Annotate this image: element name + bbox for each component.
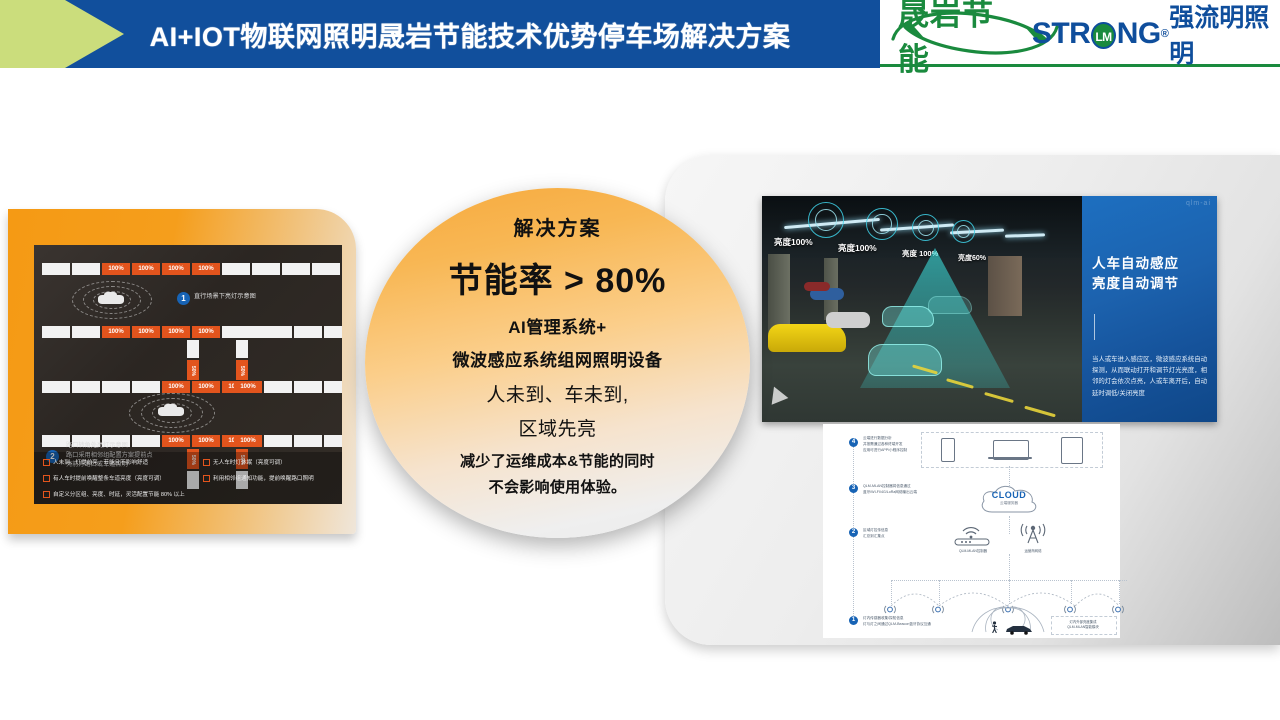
car-icon-2 bbox=[158, 407, 184, 416]
checklist-label: 有人车时提前唤醒整条车道亮度（亮度可调） bbox=[53, 474, 165, 482]
checkbox-icon bbox=[203, 459, 210, 466]
lamp-seg bbox=[312, 263, 340, 275]
logo-brand-cn: 晟岩节能 bbox=[898, 0, 1018, 79]
cell-tower-icon bbox=[1017, 518, 1049, 546]
checklist-label: 无人车时灯休眠（亮度可调） bbox=[213, 458, 286, 466]
parking-garage-image: 亮度100% 亮度100% 亮度 100% 亮度60% bbox=[762, 196, 1217, 422]
watermark: qlm-ai bbox=[1186, 200, 1211, 207]
vert-lamp-on-1: 50% bbox=[187, 360, 199, 380]
lamp-seg-on: 100% bbox=[234, 435, 262, 447]
sensor-module-label: 灯内外部亮度集成 QLM-MLAN智能模块 bbox=[1051, 620, 1115, 631]
step-3-line2: 蓝牙/WI-FI/4G/LoRa网络输出云端 bbox=[863, 490, 917, 496]
panel-divider bbox=[1094, 314, 1095, 340]
lamp-seg bbox=[72, 381, 100, 393]
router-label: QLM-MLAN控制器 bbox=[941, 548, 1005, 553]
tower-label: 运营商网络 bbox=[1011, 548, 1055, 553]
logo-strong-left: STR bbox=[1032, 17, 1091, 51]
floor-marking-4 bbox=[1024, 406, 1056, 418]
lamp-seg bbox=[42, 263, 70, 275]
vert-lamp-value: 50% bbox=[239, 366, 245, 378]
router-icon bbox=[951, 520, 995, 546]
lamp-seg bbox=[324, 435, 342, 447]
lamp-seg bbox=[42, 326, 70, 338]
panel-title: 人车自动感应 亮度自动调节 bbox=[1092, 254, 1179, 293]
lamp-seg bbox=[324, 381, 342, 393]
network-topology-diagram: 4 云端进行数据分析 并按需通过各种终端开发 应用可进行APP/小程序控制 3 … bbox=[823, 424, 1120, 638]
step-badge-1: 1 bbox=[849, 616, 858, 625]
hud-ring-1 bbox=[808, 202, 844, 238]
lamp-seg-on: 100% bbox=[162, 381, 190, 393]
step-text-1: 灯内传感器收集/探知信息 灯与灯之间通过QLM-Beacon蓝牙协议互通 bbox=[863, 616, 931, 628]
hud-ring-2 bbox=[866, 208, 898, 240]
pedestrian-icon bbox=[991, 620, 998, 632]
lamp-seg bbox=[264, 326, 292, 338]
lamp-seg bbox=[252, 263, 280, 275]
parked-car-white bbox=[826, 312, 870, 328]
photo-blue-panel: qlm-ai 人车自动感应 亮度自动调节 当人或车进入感应区，微波感应系统自动探… bbox=[1082, 196, 1217, 422]
lamp-seg bbox=[234, 326, 262, 338]
checkbox-icon bbox=[43, 459, 50, 466]
lamp-seg-on: 100% bbox=[192, 263, 220, 275]
lamp-seg-on: 100% bbox=[234, 381, 262, 393]
logo-brand-en: STRLMNG® 强流明照明 bbox=[1032, 0, 1280, 70]
logo-strong-right: NG bbox=[1117, 17, 1161, 51]
step-4-line3: 应用可进行APP/小程序控制 bbox=[863, 448, 907, 454]
parked-car-red bbox=[804, 282, 830, 291]
oval-line-5: 减少了运维成本&节能的同时 bbox=[460, 450, 655, 471]
lamp-seg bbox=[132, 381, 160, 393]
floor-arrow-icon bbox=[766, 383, 789, 405]
lamp-seg-on: 100% bbox=[132, 263, 160, 275]
step-badge-2: 2 bbox=[849, 528, 858, 537]
parked-car-yellow bbox=[768, 324, 846, 352]
checkbox-icon bbox=[43, 475, 50, 482]
oval-line-4: 区域先亮 bbox=[518, 414, 596, 441]
lamp-seg-on: 100% bbox=[102, 326, 130, 338]
lamp-seg bbox=[264, 435, 292, 447]
step-2-line2: 汇总到汇集点 bbox=[863, 534, 888, 540]
panel-title-line2: 亮度自动调节 bbox=[1092, 274, 1179, 294]
step-badge-3: 3 bbox=[849, 484, 858, 493]
sensor-module-line2: QLM-MLAN智能模块 bbox=[1051, 625, 1115, 630]
highlighted-car-1 bbox=[882, 306, 934, 327]
trunk-line bbox=[1009, 554, 1010, 580]
step-1-line2: 灯与灯之间通过QLM-Beacon蓝牙协议互通 bbox=[863, 622, 931, 628]
lamp-seg bbox=[282, 263, 310, 275]
lm-circle-icon: LM bbox=[1091, 22, 1115, 49]
panel-body-text: 当人或车进入感应区，微波感应系统自动探测，从而联动打开和调节灯光亮度，相邻的灯会… bbox=[1092, 354, 1212, 399]
oval-line-1: AI管理系统+ bbox=[508, 313, 606, 338]
vert-lamp-2 bbox=[236, 340, 248, 358]
panel-title-line1: 人车自动感应 bbox=[1092, 254, 1179, 274]
checklist-item-4: 利用相邻组通知功能，提前唤醒路口照明 bbox=[203, 474, 314, 482]
vert-lamp-value: 50% bbox=[190, 366, 196, 378]
step-text-2: 区域灯控传信息 汇总到汇集点 bbox=[863, 528, 888, 540]
legend-badge-1: 1 bbox=[177, 292, 190, 305]
lamp-seg bbox=[72, 326, 100, 338]
lamp-seg bbox=[294, 435, 322, 447]
lamp-seg-on: 100% bbox=[192, 326, 220, 338]
lamp-seg-on: 100% bbox=[162, 435, 190, 447]
hud-ring-3 bbox=[912, 214, 939, 241]
checklist-label: 人未到，灯提前亮，节能且不影响舒适 bbox=[53, 458, 148, 466]
hud-ring-4 bbox=[952, 220, 975, 243]
registered-mark: ® bbox=[1161, 28, 1169, 40]
checklist-item-5: 自定义分区组、亮度、时延，灵活配置节能 80% 以上 bbox=[43, 490, 185, 498]
lamp-row-3b: 100% bbox=[234, 381, 342, 393]
step-4-line2: 并按需通过各种终端开发 bbox=[863, 442, 907, 448]
car-icon-1 bbox=[98, 295, 124, 304]
brightness-label-1: 亮度100% bbox=[774, 236, 813, 248]
lamp-row-3: 100% 100% 100% bbox=[42, 381, 250, 393]
lamp-seg-on: 100% bbox=[132, 326, 160, 338]
highlighted-car-2 bbox=[928, 296, 972, 314]
legend-note-2-line1: 路口转角处亮灯示意图 bbox=[66, 441, 153, 451]
lamp-seg-on: 100% bbox=[192, 435, 220, 447]
oval-line-2: 微波感应系统组网照明设备 bbox=[453, 346, 663, 371]
checkbox-icon bbox=[43, 491, 50, 498]
slide-root: AI+IOT物联网照明晟岩节能技术优势停车场解决方案 晟岩节能 STRLMNG®… bbox=[0, 0, 1280, 720]
cloud-label: CLOUD bbox=[978, 490, 1040, 500]
lamp-seg bbox=[324, 326, 342, 338]
lamp-seg bbox=[42, 381, 70, 393]
oval-highlight: 节能率 > 80% bbox=[449, 253, 667, 302]
brand-logo: 晟岩节能 STRLMNG® 强流明照明 bbox=[880, 0, 1280, 68]
lamp-seg-on: 100% bbox=[162, 263, 190, 275]
lamp-seg-on: 100% bbox=[192, 381, 220, 393]
brightness-label-4: 亮度60% bbox=[958, 253, 986, 263]
lamp-seg bbox=[294, 381, 322, 393]
cloud-icon: CLOUD 云端服务器 bbox=[978, 482, 1040, 516]
header-banner: AI+IOT物联网照明晟岩节能技术优势停车场解决方案 晟岩节能 STRLMNG®… bbox=[0, 0, 1280, 72]
lamp-row-2b bbox=[234, 326, 342, 338]
floor-marking-3 bbox=[984, 392, 1014, 403]
checkbox-icon bbox=[203, 475, 210, 482]
lamp-seg bbox=[222, 263, 250, 275]
tablet-icon bbox=[1061, 437, 1083, 464]
parking-lot-layout-diagram: 100% 100% 100% 100% 1 直行场景下亮灯示意图 100% 10… bbox=[34, 245, 342, 504]
lamp-seg bbox=[264, 381, 292, 393]
checklist-item-3: 有人车时提前唤醒整条车道亮度（亮度可调） bbox=[43, 474, 165, 482]
cloud-sublabel: 云端服务器 bbox=[978, 501, 1040, 506]
checklist-item-2: 无人车时灯休眠（亮度可调） bbox=[203, 458, 286, 466]
oval-heading: 解决方案 bbox=[514, 212, 602, 241]
vert-lamp-1 bbox=[187, 340, 199, 358]
laptop-base bbox=[988, 457, 1032, 459]
car-icon bbox=[1005, 622, 1033, 633]
cloud-down-line bbox=[1009, 516, 1010, 534]
lamp-seg bbox=[294, 326, 322, 338]
oval-line-6: 不会影响使用体验。 bbox=[489, 476, 627, 497]
lamp-row-4b: 100% bbox=[234, 435, 342, 447]
vert-lamp-on-2: 50% bbox=[236, 360, 248, 380]
step-text-4: 云端进行数据分析 并按需通过各种终端开发 应用可进行APP/小程序控制 bbox=[863, 436, 907, 454]
logo-brand-cn2: 强流明照明 bbox=[1169, 0, 1280, 70]
lamp-seg bbox=[72, 263, 100, 275]
checklist-label: 自定义分区组、亮度、时延，灵活配置节能 80% 以上 bbox=[53, 490, 185, 498]
phone-icon bbox=[941, 438, 955, 462]
oval-line-3: 人未到、车未到, bbox=[486, 380, 628, 407]
brightness-label-2: 亮度100% bbox=[838, 242, 877, 254]
checklist-label: 利用相邻组通知功能，提前唤醒路口照明 bbox=[213, 474, 314, 482]
step-badge-4: 4 bbox=[849, 438, 858, 447]
page-title: AI+IOT物联网照明晟岩节能技术优势停车场解决方案 bbox=[60, 0, 880, 68]
lamp-seg-on: 100% bbox=[162, 326, 190, 338]
lamp-row-1: 100% 100% 100% 100% bbox=[42, 263, 340, 275]
solution-oval-callout: 解决方案 节能率 > 80% AI管理系统+ 微波感应系统组网照明设备 人未到、… bbox=[365, 188, 750, 538]
checklist-item-1: 人未到，灯提前亮，节能且不影响舒适 bbox=[43, 458, 148, 466]
garage-scene: 亮度100% 亮度100% 亮度 100% 亮度60% bbox=[762, 196, 1082, 422]
lamp-seg bbox=[102, 381, 130, 393]
legend-note-1: 直行场景下亮灯示意图 bbox=[194, 292, 256, 302]
lamp-seg-on: 100% bbox=[102, 263, 130, 275]
pillar-right bbox=[988, 256, 1022, 316]
step-text-3: QLM-MLAN控制器将信息通过 蓝牙/WI-FI/4G/LoRa网络输出云端 bbox=[863, 484, 917, 496]
